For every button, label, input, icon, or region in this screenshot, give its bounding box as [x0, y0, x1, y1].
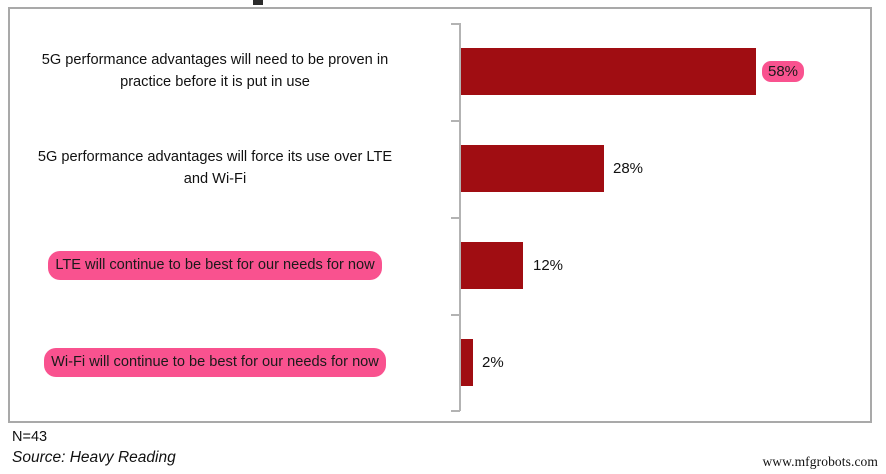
bar-row: LTE will continue to be best for our nee… [10, 217, 870, 314]
bar[interactable] [461, 339, 473, 386]
watermark-text: www.mfgrobots.com [762, 454, 878, 470]
plot-area: 5G performance advantages will need to b… [10, 9, 870, 421]
bar-row: Wi-Fi will continue to be best for our n… [10, 314, 870, 411]
bar-value-label: 28% [611, 145, 645, 192]
category-label: Wi-Fi will continue to be best for our n… [9, 314, 429, 411]
bar[interactable] [461, 48, 756, 95]
bar-value-text: 58% [762, 61, 804, 82]
chart-frame: 5G performance advantages will need to b… [8, 7, 872, 423]
bar-row: 5G performance advantages will force its… [10, 120, 870, 217]
category-label-line: LTE will continue to be best for our nee… [51, 254, 378, 277]
category-label-line: practice before it is put in use [120, 74, 310, 90]
bar[interactable] [461, 242, 523, 289]
category-label-line: 5G performance advantages will force its… [38, 149, 392, 165]
bar-value-text: 2% [480, 354, 506, 371]
bar-value-label: 58% [762, 48, 804, 95]
category-label: 5G performance advantages will need to b… [9, 23, 429, 120]
source-text: Source: Heavy Reading [12, 448, 612, 469]
category-label: 5G performance advantages will force its… [9, 120, 429, 217]
bar-value-text: 28% [611, 160, 645, 177]
bar-value-label: 12% [531, 242, 565, 289]
bar-row: 5G performance advantages will need to b… [10, 23, 870, 120]
bar-value-text: 12% [531, 257, 565, 274]
sample-size-text: N=43 [12, 428, 612, 448]
category-label-line: Wi-Fi will continue to be best for our n… [47, 351, 383, 374]
chart-footer: N=43 Source: Heavy Reading [12, 428, 612, 468]
category-label-line: and Wi-Fi [184, 171, 246, 187]
category-label: LTE will continue to be best for our nee… [9, 217, 429, 314]
bar[interactable] [461, 145, 604, 192]
top-crop-artifact [253, 0, 263, 5]
category-label-line: 5G performance advantages will need to b… [42, 52, 388, 68]
bar-value-label: 2% [480, 339, 506, 386]
